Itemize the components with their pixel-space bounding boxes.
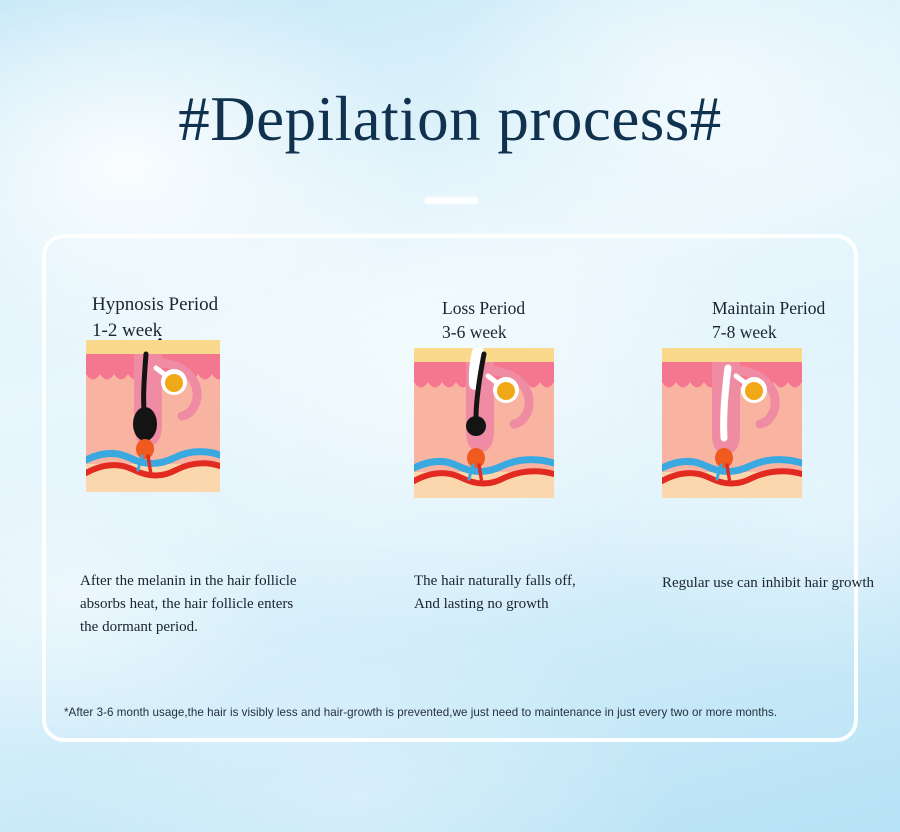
step-loss-period: Loss Period 3-6 week (332, 234, 612, 742)
depilation-process-infographic: #Depilation process# Hypnosis Period 1-2… (0, 0, 900, 832)
epidermis-layer (86, 340, 220, 354)
sebaceous-gland (497, 382, 515, 400)
page-title: #Depilation process# (0, 86, 900, 152)
hair-bulb (133, 407, 157, 441)
footnote: *After 3-6 month usage,the hair is visib… (64, 706, 844, 719)
epidermis-layer (662, 348, 802, 362)
step-duration: 3-6 week (442, 320, 525, 344)
step-caption: The hair naturally falls off, And lastin… (414, 570, 644, 616)
step-hypnosis-period: Hypnosis Period 1-2 week (42, 234, 342, 742)
dermal-papilla (467, 448, 485, 468)
hair-shaft-internal (144, 354, 146, 410)
skin-diagram-full-hair (86, 332, 220, 492)
step-maintain-period: Maintain Period 7-8 week (620, 234, 858, 742)
dermal-papilla (136, 439, 154, 459)
step-heading: Loss Period 3-6 week (442, 296, 525, 344)
sebaceous-gland (165, 374, 183, 392)
skin-diagram-empty-follicle (662, 342, 802, 498)
step-title: Maintain Period (712, 298, 825, 318)
step-duration: 7-8 week (712, 320, 825, 344)
step-caption: After the melanin in the hair follicle a… (80, 570, 330, 638)
sebaceous-gland (745, 382, 763, 400)
steps-container: Hypnosis Period 1-2 week (42, 234, 858, 742)
dermal-papilla (715, 448, 733, 468)
title-divider (424, 197, 478, 204)
step-caption: Regular use can inhibit hair growth (662, 572, 897, 595)
step-heading: Maintain Period 7-8 week (712, 296, 825, 344)
step-title: Hypnosis Period (92, 294, 218, 315)
hair-bulb-detached (466, 416, 486, 436)
title-block: #Depilation process# (0, 86, 900, 152)
skin-diagram-detached-hair (414, 342, 554, 498)
step-title: Loss Period (442, 298, 525, 318)
